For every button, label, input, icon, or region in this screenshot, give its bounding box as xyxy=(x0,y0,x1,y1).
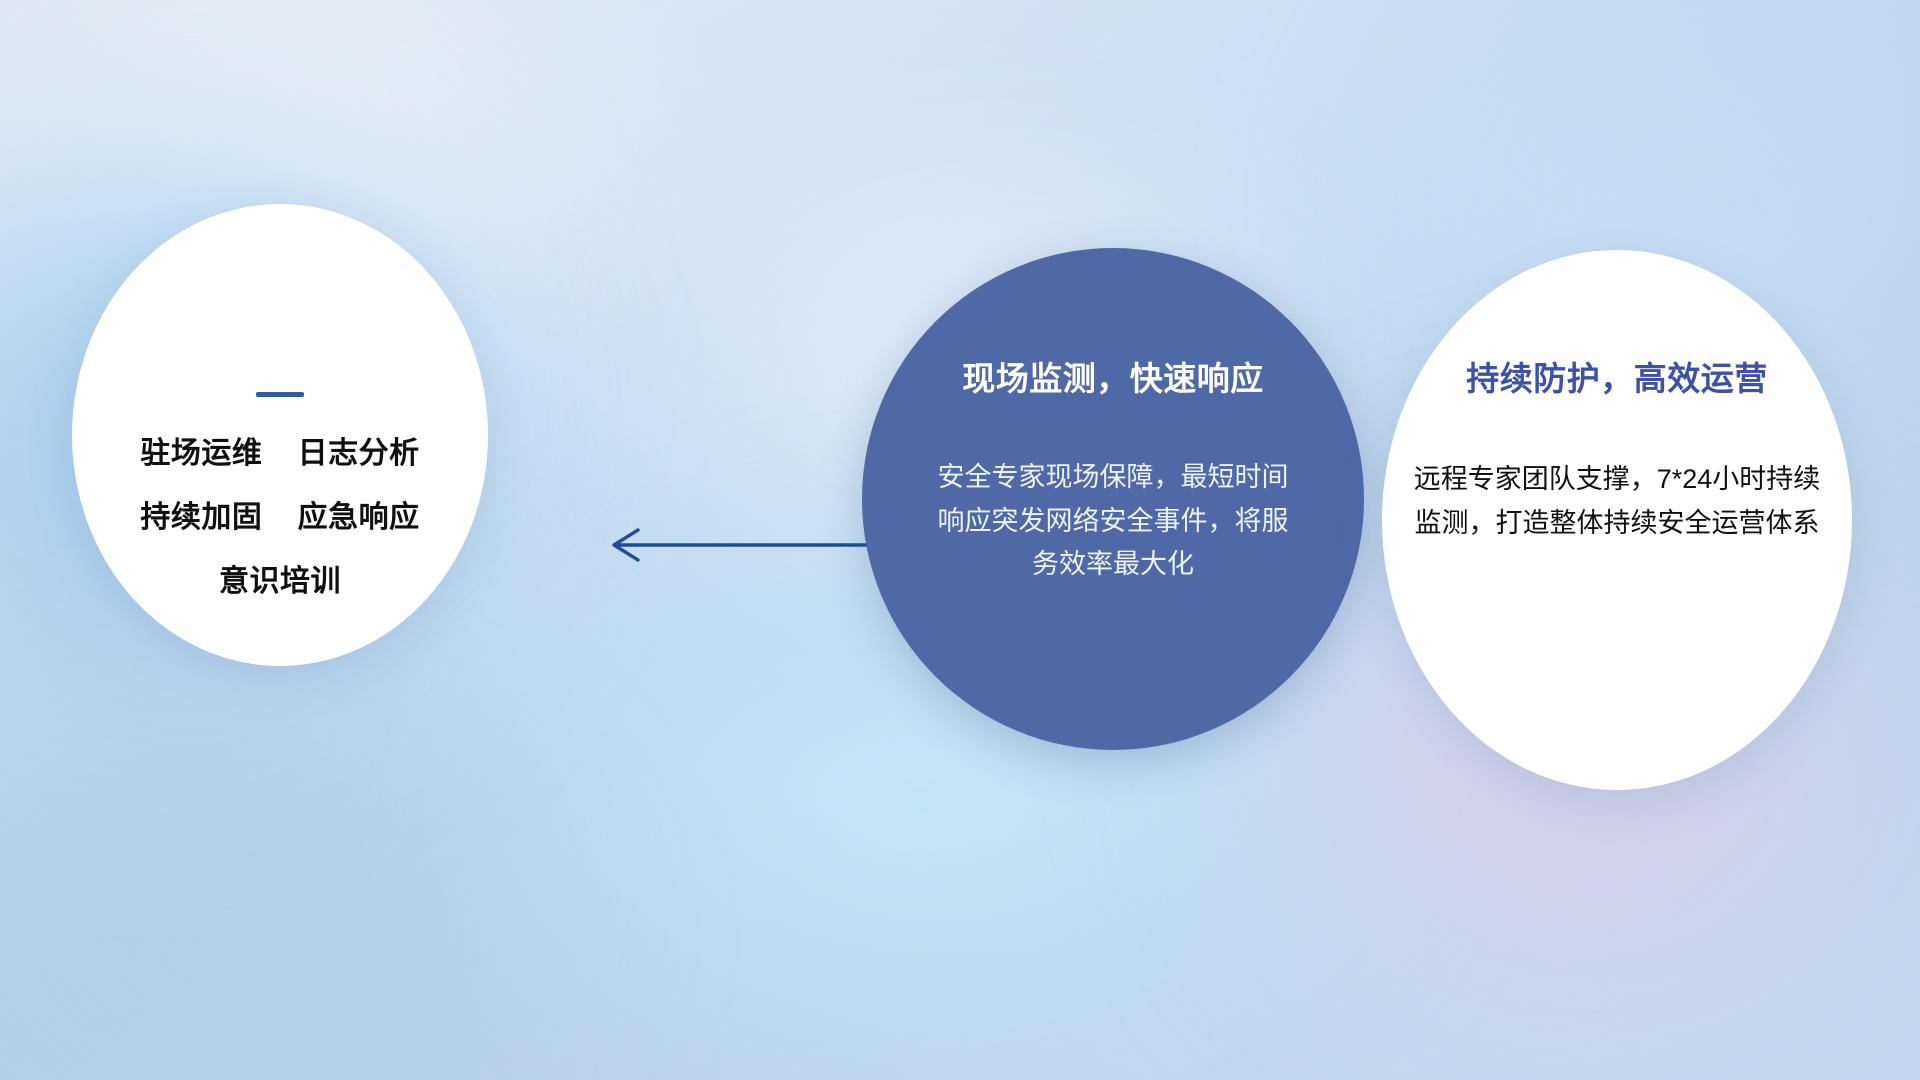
middle-circle-title: 现场监测，快速响应 xyxy=(962,352,1264,400)
left-keyword-list: 驻场运维 日志分析 持续加固 应急响应 意识培训 xyxy=(140,439,419,597)
middle-circle-body: 安全专家现场保障，最短时间响应突发网络安全事件，将服务效率最大化 xyxy=(929,456,1297,587)
slide-canvas: 驻场运维 日志分析 持续加固 应急响应 意识培训 现场监测，快速响应 安全专家现… xyxy=(0,0,1920,1080)
left-keywords-circle: 驻场运维 日志分析 持续加固 应急响应 意识培训 xyxy=(72,204,488,666)
right-operations-circle: 持续防护，高效运营 远程专家团队支撑，7*24小时持续监测，打造整体持续安全运营… xyxy=(1382,250,1852,790)
flow-arrow-left-icon xyxy=(596,514,896,576)
left-keyword-line-2: 持续加固 应急响应 xyxy=(140,503,419,533)
left-keyword-line-1: 驻场运维 日志分析 xyxy=(140,439,419,469)
right-circle-body: 远程专家团队支撑，7*24小时持续监测，打造整体持续安全运营体系 xyxy=(1402,458,1832,545)
divider-dash-icon xyxy=(256,392,304,397)
right-circle-title: 持续防护，高效运营 xyxy=(1466,352,1768,400)
left-keyword-line-3: 意识培训 xyxy=(140,567,419,597)
middle-onsite-circle: 现场监测，快速响应 安全专家现场保障，最短时间响应突发网络安全事件，将服务效率最… xyxy=(862,248,1364,750)
